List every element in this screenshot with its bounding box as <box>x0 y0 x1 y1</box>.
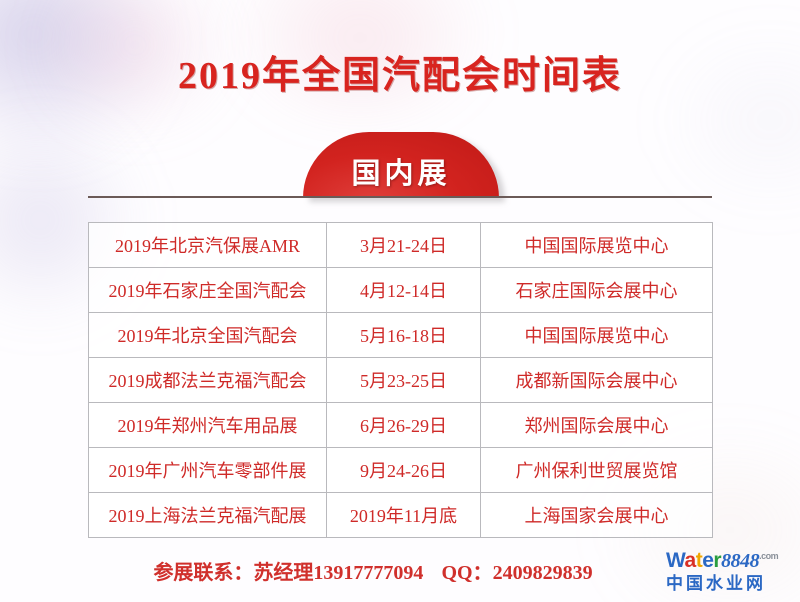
cell-exhibition-name: 2019年石家庄全国汽配会 <box>89 268 327 313</box>
cell-exhibition-venue: 中国国际展览中心 <box>481 313 713 358</box>
cell-exhibition-venue: 石家庄国际会展中心 <box>481 268 713 313</box>
cell-exhibition-venue: 郑州国际会展中心 <box>481 403 713 448</box>
cell-exhibition-venue: 上海国家会展中心 <box>481 493 713 538</box>
logo-letter-w: W <box>666 549 685 572</box>
contact-label: 参展联系： <box>153 562 253 584</box>
qq-label: QQ： <box>441 562 492 584</box>
cell-exhibition-date: 6月26-29日 <box>327 403 481 448</box>
logo-letter-a: a <box>685 549 696 572</box>
cell-exhibition-name: 2019年郑州汽车用品展 <box>89 403 327 448</box>
table-row: 2019年北京全国汽配会 5月16-18日 中国国际展览中心 <box>89 313 713 358</box>
table-row: 2019成都法兰克福汽配会 5月23-25日 成都新国际会展中心 <box>89 358 713 403</box>
logo-number: 8848 <box>721 550 759 572</box>
watermark-wordmark: Water8848.com <box>666 550 796 571</box>
watermark-subtitle: 中国水业网 <box>666 575 796 592</box>
banner-label: 国内展 <box>303 132 499 198</box>
watermark-logo: Water8848.com 中国水业网 <box>666 550 796 592</box>
logo-domain-suffix: .com <box>759 551 778 561</box>
contact-person: 苏经理13917777094 <box>253 562 423 584</box>
domestic-exhibition-banner: 国内展 <box>303 132 499 198</box>
table-row: 2019年北京汽保展AMR 3月21-24日 中国国际展览中心 <box>89 223 713 268</box>
cell-exhibition-name: 2019上海法兰克福汽配展 <box>89 493 327 538</box>
cell-exhibition-venue: 中国国际展览中心 <box>481 223 713 268</box>
poster-title: 2019年全国汽配会时间表 <box>0 44 800 99</box>
cell-exhibition-date: 5月16-18日 <box>327 313 481 358</box>
table-row: 2019年广州汽车零部件展 9月24-26日 广州保利世贸展览馆 <box>89 448 713 493</box>
cell-exhibition-date: 5月23-25日 <box>327 358 481 403</box>
header-divider-rule <box>88 196 712 198</box>
poster-canvas: 2019年全国汽配会时间表 国内展 2019年北京汽保展AMR 3月21-24日… <box>0 0 800 602</box>
cell-exhibition-date: 3月21-24日 <box>327 223 481 268</box>
table-row: 2019年石家庄全国汽配会 4月12-14日 石家庄国际会展中心 <box>89 268 713 313</box>
qq-number: 2409829839 <box>493 562 593 584</box>
cell-exhibition-date: 4月12-14日 <box>327 268 481 313</box>
cell-exhibition-date: 2019年11月底 <box>327 493 481 538</box>
cell-exhibition-name: 2019年北京全国汽配会 <box>89 313 327 358</box>
logo-letter-r: r <box>713 549 721 572</box>
cell-exhibition-name: 2019年北京汽保展AMR <box>89 223 327 268</box>
cell-exhibition-venue: 广州保利世贸展览馆 <box>481 448 713 493</box>
cell-exhibition-name: 2019成都法兰克福汽配会 <box>89 358 327 403</box>
cell-exhibition-name: 2019年广州汽车零部件展 <box>89 448 327 493</box>
logo-letter-e: e <box>702 549 713 572</box>
cell-exhibition-venue: 成都新国际会展中心 <box>481 358 713 403</box>
contact-footer: 参展联系：苏经理13917777094QQ：2409829839 <box>88 556 658 585</box>
exhibition-schedule-table: 2019年北京汽保展AMR 3月21-24日 中国国际展览中心 2019年石家庄… <box>88 222 713 538</box>
table-row: 2019上海法兰克福汽配展 2019年11月底 上海国家会展中心 <box>89 493 713 538</box>
table-row: 2019年郑州汽车用品展 6月26-29日 郑州国际会展中心 <box>89 403 713 448</box>
cell-exhibition-date: 9月24-26日 <box>327 448 481 493</box>
